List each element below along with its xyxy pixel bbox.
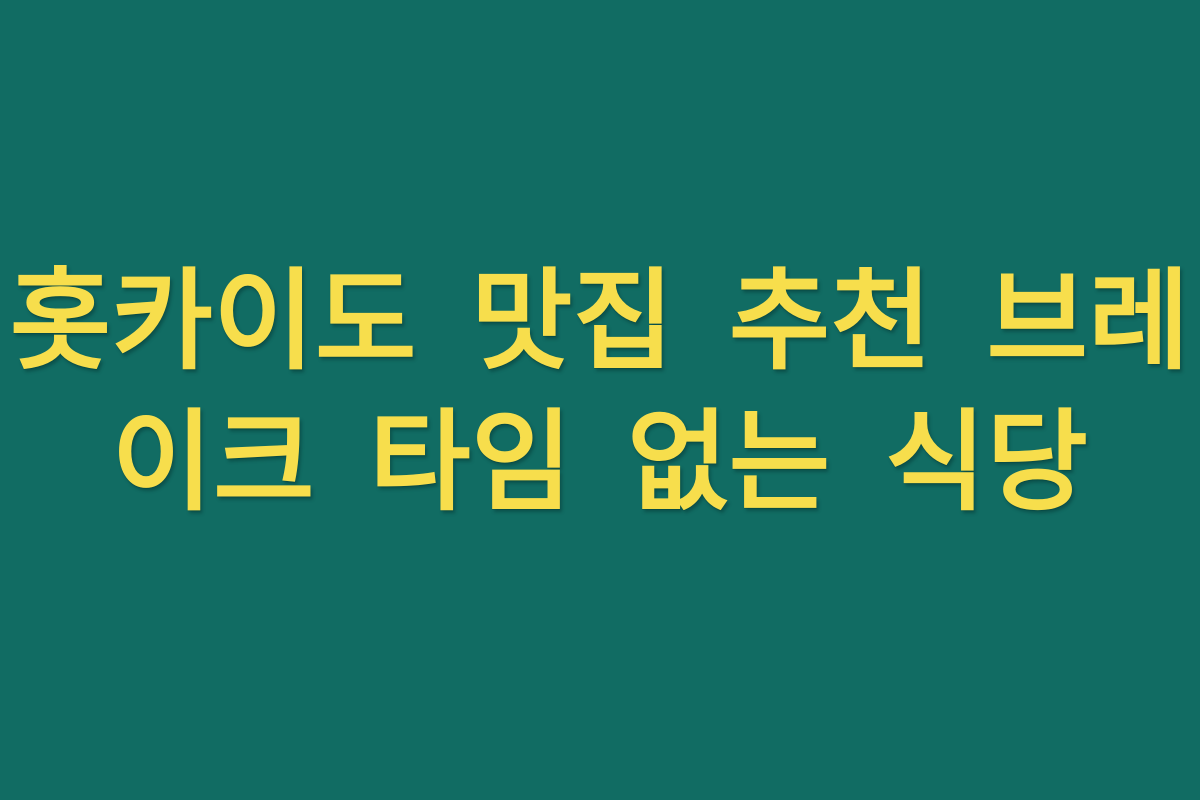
headline-line-1: 홋카이도 맛집 추천 브레 <box>10 251 1190 392</box>
headline-block: 홋카이도 맛집 추천 브레 이크 타임 없는 식당 <box>0 251 1200 533</box>
headline-line-2: 이크 타임 없는 식당 <box>112 392 1089 533</box>
thumbnail-card: 홋카이도 맛집 추천 브레 이크 타임 없는 식당 <box>0 0 1200 800</box>
